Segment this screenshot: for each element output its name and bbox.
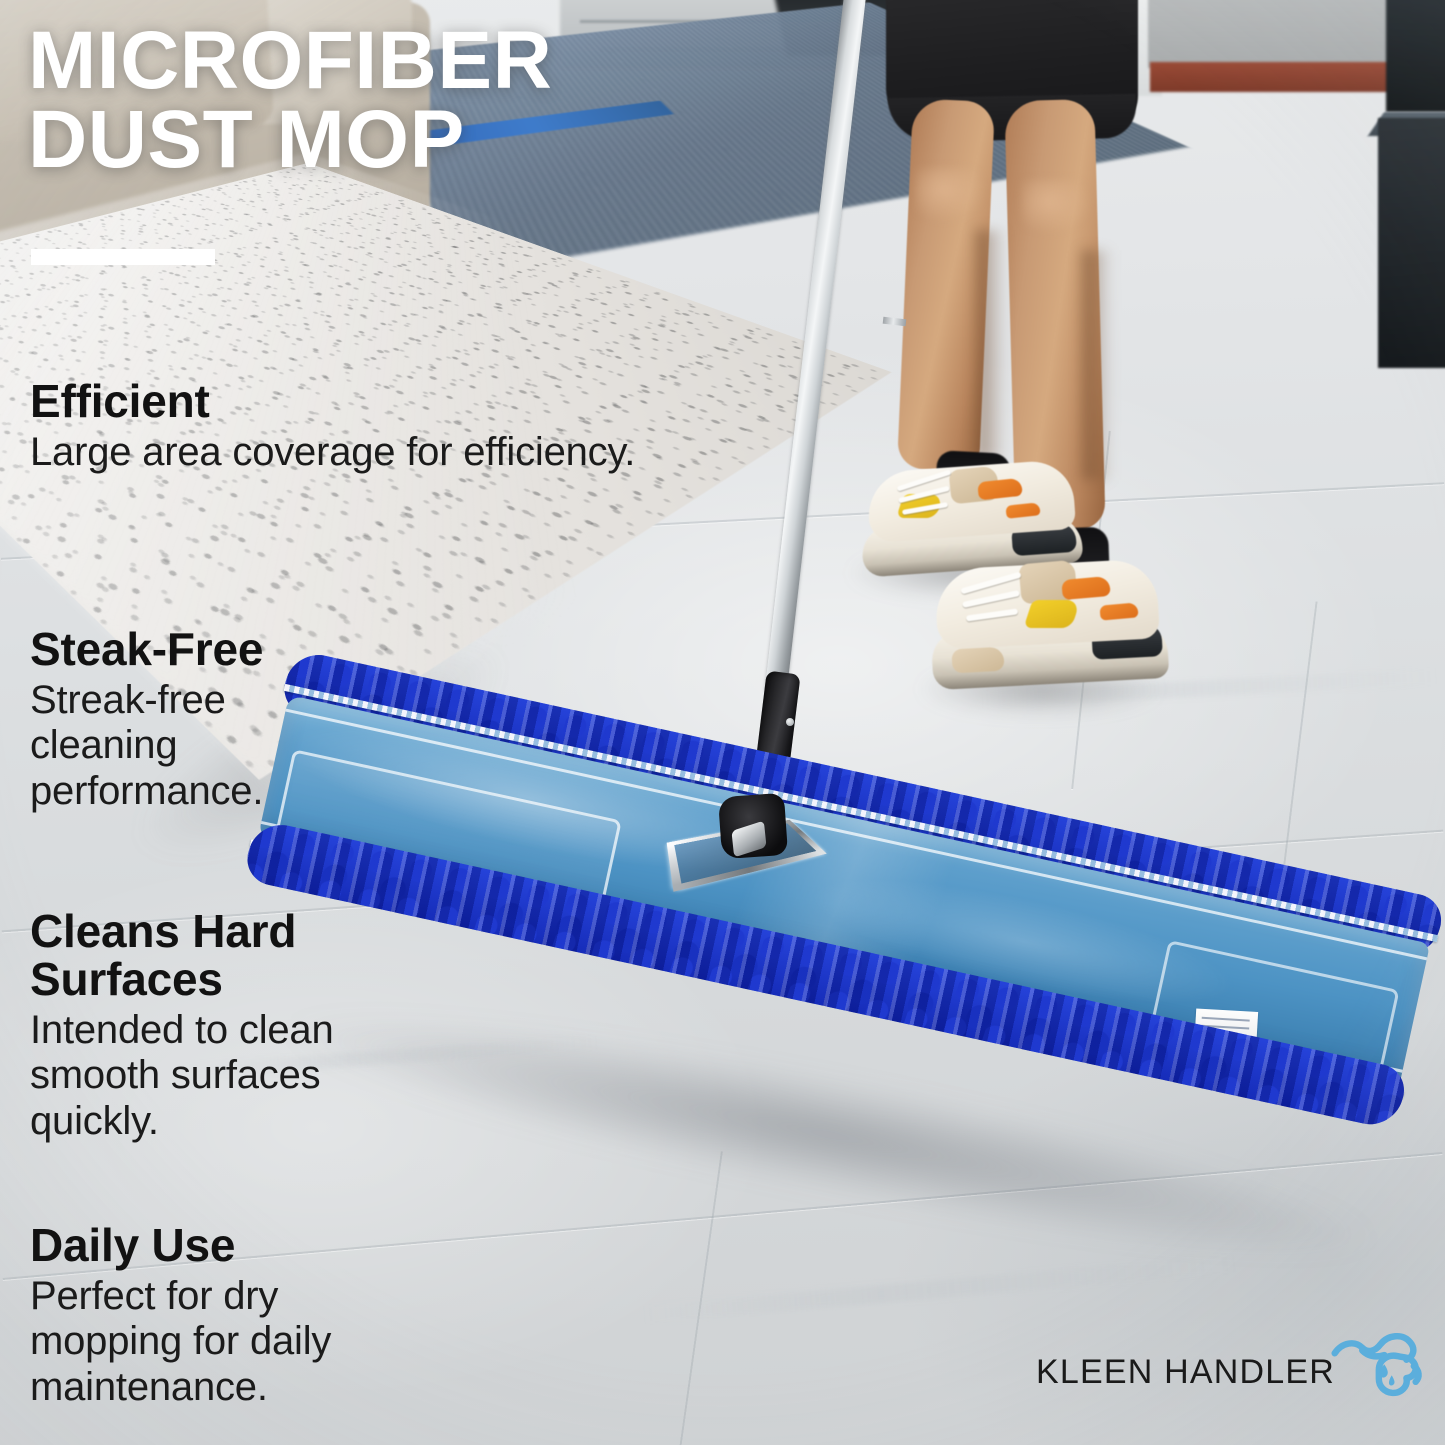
dark-cabinet-top: [1386, 0, 1445, 112]
leg-shading: [976, 230, 1006, 460]
brand-logo: KLEEN HANDLER: [1036, 1329, 1423, 1415]
feature-heading: Efficient: [30, 378, 635, 426]
person-knee-left: [916, 168, 986, 222]
care-tag-line: [1202, 1017, 1250, 1022]
brand-name: KLEEN HANDLER: [1036, 1353, 1335, 1392]
feature-block-steak-free: Steak-Free Streak-free cleaning performa…: [30, 626, 320, 815]
dark-cabinet: [1378, 118, 1445, 368]
sneaker-toe-cap: [951, 647, 1004, 674]
feature-heading: Steak-Free: [30, 626, 320, 674]
person-knee-right: [1022, 180, 1092, 234]
sneaker-accent-orange: [1061, 576, 1111, 600]
feature-heading: Daily Use: [30, 1222, 370, 1270]
mop-pole-screw: [786, 718, 794, 726]
title-underline-rule: [31, 249, 215, 265]
feature-block-efficient: Efficient Large area coverage for effici…: [30, 378, 635, 475]
water-splash-logo-mark: [1331, 1329, 1423, 1407]
feature-block-cleans-hard-surfaces: Cleans Hard Surfaces Intended to clean s…: [30, 908, 370, 1144]
feature-body: Large area coverage for efficiency.: [30, 430, 635, 476]
feature-heading: Cleans Hard Surfaces: [30, 908, 350, 1004]
page-title: MICROFIBER DUST MOP: [28, 22, 552, 179]
feature-block-daily-use: Daily Use Perfect for dry mopping for da…: [30, 1222, 370, 1411]
wood-step-trim: [1150, 62, 1402, 92]
feature-body: Perfect for dry mopping for daily mainte…: [30, 1274, 370, 1411]
leg-shading: [1082, 250, 1112, 480]
feature-body: Intended to clean smooth surfaces quickl…: [30, 1008, 370, 1145]
feature-body: Streak-free cleaning performance.: [30, 678, 320, 815]
product-feature-graphic: MICROFIBER DUST MOP Efficient Large area…: [0, 0, 1445, 1445]
